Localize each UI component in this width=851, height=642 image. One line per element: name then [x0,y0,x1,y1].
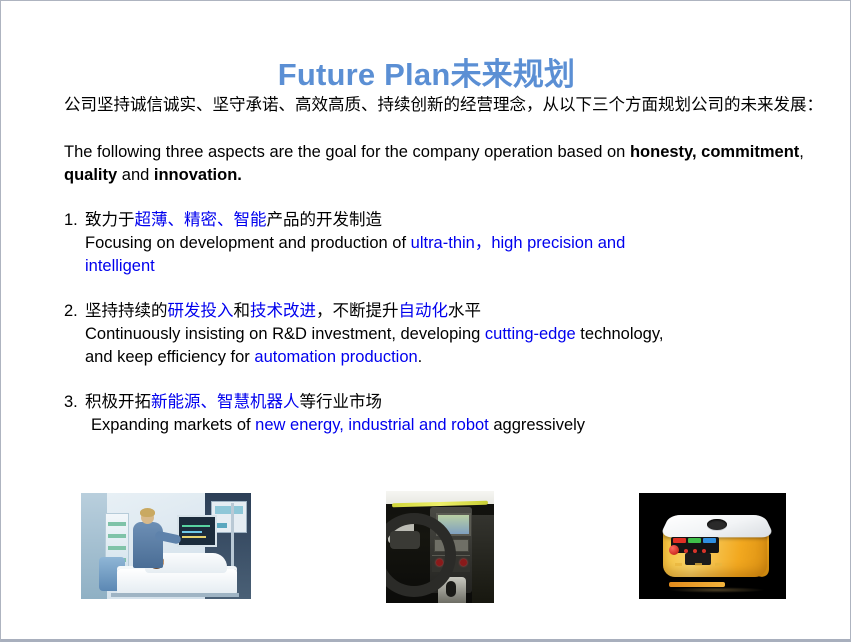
goal-2-en-post-2: . [418,348,423,366]
intro-en-sep-1: , [799,143,804,161]
goal-2-cn-post: 水平 [448,302,481,320]
robot-lift-pin-hole-icon [707,519,727,530]
goal-2-en-highlight-1: cutting-edge [485,325,576,343]
intro-en-bold-commitment: commitment [701,143,799,161]
emergency-stop-button-icon [669,545,679,555]
nurse-hair [140,508,155,517]
goal-2-cn-mid-2: ，不断提升 [316,302,399,320]
hospital-icu-photo [81,493,251,599]
slide-body: 公司坚持诚信诚实、坚守承诺、高效高质、持续创新的经营理念，从以下三个方面规划公司… [64,94,846,437]
steering-wheel-hub [390,531,420,549]
robot-status-led-red [673,538,686,543]
goal-1-number: 1. [64,209,85,232]
intro-en-lead: The following three aspects are the goal… [64,143,630,161]
intro-en-bold-honesty: honesty, [630,143,697,161]
yellow-agv-robot-photo [639,493,786,599]
goal-2-en-pre-2: and keep efficiency for [85,348,254,366]
list-item: 3.积极开拓新能源、智慧机器人等行业市场 Expanding markets o… [64,391,846,437]
goal-2-cn-highlight-2: 技术改进 [250,302,316,320]
goals-list: 1.致力于超薄、精密、智能产品的开发制造 Focusing on develop… [64,209,846,437]
robot-body-marking [715,563,722,566]
goal-2-english-line-1: Continuously insisting on R&D investment… [64,323,846,346]
goal-3-cn-post: 等行业市场 [300,393,383,411]
intro-en-sep-2: and [117,166,154,184]
list-item: 2.坚持持续的研发投入和技术改进，不断提升自动化水平 Continuously … [64,300,846,369]
nurse-body [133,522,163,568]
goal-2-en-highlight-2: automation production [254,348,417,366]
car-interior-dashboard-photo [386,491,494,603]
patient-monitor-screen-icon [177,515,217,547]
intro-paragraph-chinese: 公司坚持诚信诚实、坚守承诺、高效高质、持续创新的经营理念，从以下三个方面规划公司… [64,94,846,117]
goal-2-cn-mid-1: 和 [234,302,251,320]
goal-1-english-line-2: intelligent [64,255,846,278]
page-title: Future Plan未来规划 [1,49,851,94]
control-knob-right-icon [460,559,467,566]
goal-2-en-post-1: technology, [576,325,664,343]
goal-3-en-pre: Expanding markets of [91,416,255,434]
robot-status-led-green [688,538,701,543]
goal-1-cn-post: 产品的开发制造 [267,211,383,229]
picture-strip [1,491,851,603]
goal-1-en-highlight-1: ultra-thin，high precision and [411,234,626,252]
goal-1-cn-highlight: 超薄、精密、智能 [135,211,267,229]
goal-2-number: 2. [64,300,85,323]
car-door-panel [472,515,494,603]
hospital-bed-rail [111,593,239,597]
goal-2-en-pre: Continuously insisting on R&D investment… [85,325,485,343]
robot-status-led-blue [703,538,716,543]
robot-front-bumper [669,582,725,587]
goal-3-number: 3. [64,391,85,414]
gear-shifter-icon [446,581,456,597]
robot-body-marking [675,563,682,566]
goal-2-cn-highlight-3: 自动化 [399,302,449,320]
robot-ground-glow [669,587,765,593]
goal-1-en-pre: Focusing on development and production o… [85,234,411,252]
goal-3-cn-pre: 积极开拓 [85,393,151,411]
goal-2-cn-pre: 坚持持续的 [85,302,168,320]
goal-1-cn-pre: 致力于 [85,211,135,229]
goal-1-en-highlight-2: intelligent [85,257,155,275]
goal-3-chinese: 3.积极开拓新能源、智慧机器人等行业市场 [64,391,846,414]
slide-canvas: Future Plan未来规划 公司坚持诚信诚实、坚守承诺、高效高质、持续创新的… [0,0,851,642]
intro-en-bold-innovation: innovation. [154,166,242,184]
intro-paragraph-english: The following three aspects are the goal… [64,141,846,187]
goal-3-en-post: aggressively [489,416,585,434]
goal-3-cn-highlight: 新能源、智慧机器人 [151,393,300,411]
goal-2-chinese: 2.坚持持续的研发投入和技术改进，不断提升自动化水平 [64,300,846,323]
goal-1-chinese: 1.致力于超薄、精密、智能产品的开发制造 [64,209,846,232]
goal-1-english-line-1: Focusing on development and production o… [64,232,846,255]
goal-2-english-line-2: and keep efficiency for automation produ… [64,346,846,369]
goal-3-en-highlight: new energy, industrial and robot [255,416,489,434]
goal-2-cn-highlight-1: 研发投入 [168,302,234,320]
goal-3-english-line-1: Expanding markets of new energy, industr… [64,414,846,437]
robot-body-marking [695,563,702,566]
list-item: 1.致力于超薄、精密、智能产品的开发制造 Focusing on develop… [64,209,846,278]
intro-en-bold-quality: quality [64,166,117,184]
